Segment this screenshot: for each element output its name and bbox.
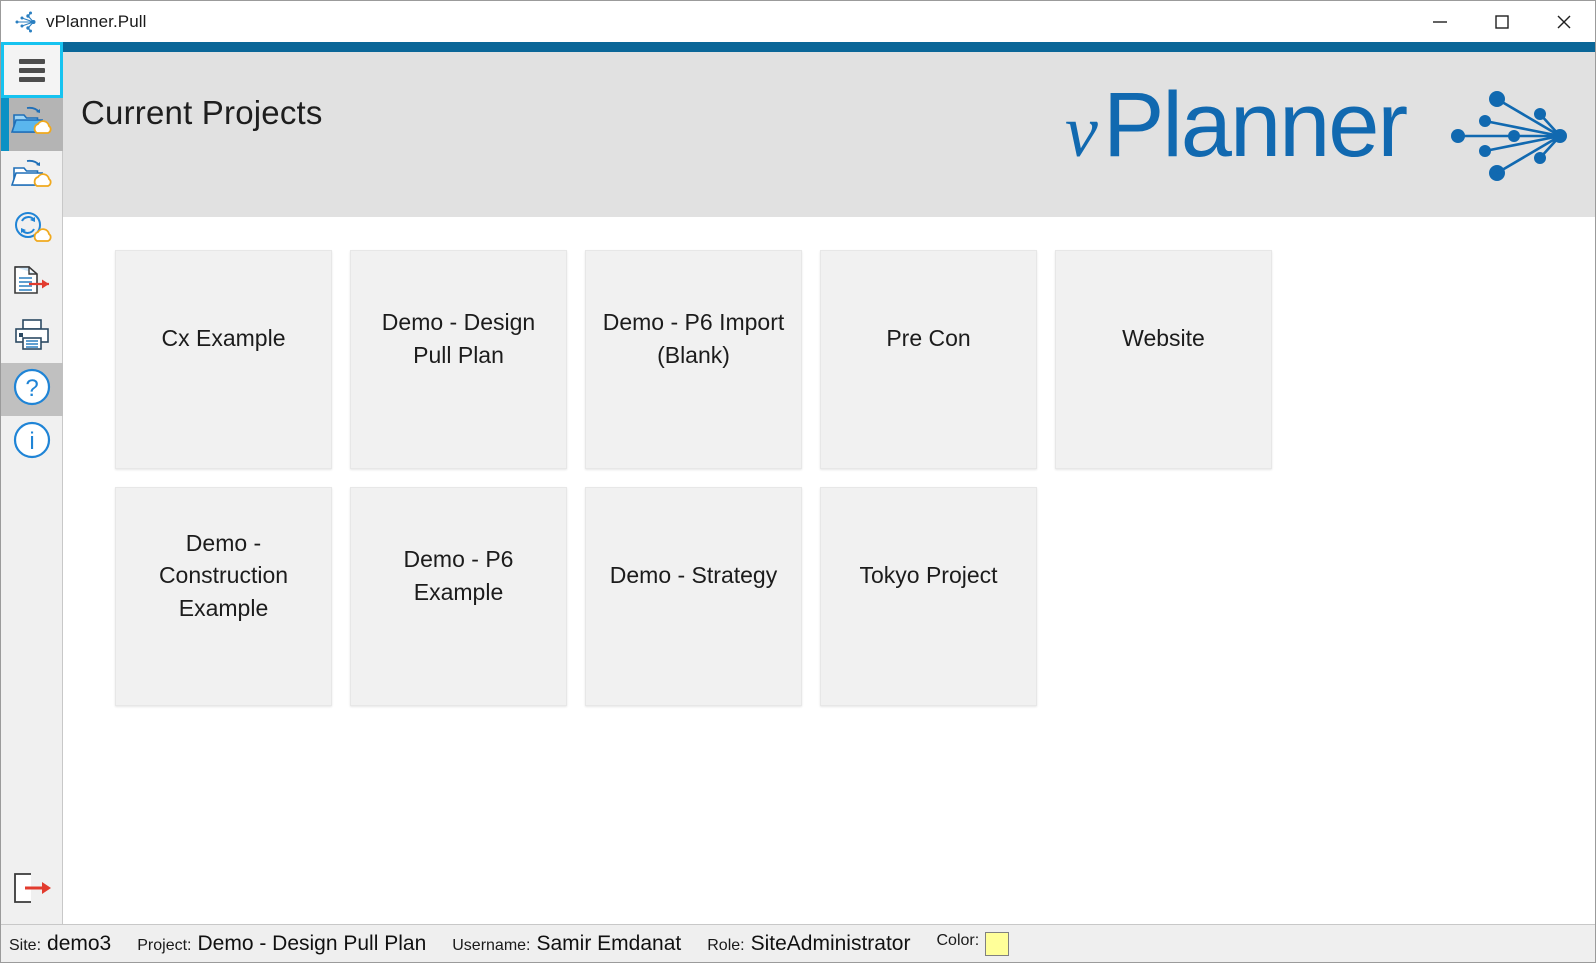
sidebar-item-save-project-cloud[interactable] bbox=[1, 151, 63, 204]
status-username-label: Username: bbox=[452, 937, 530, 955]
project-tile[interactable]: Tokyo Project bbox=[820, 487, 1037, 706]
project-tile[interactable]: Cx Example bbox=[115, 250, 332, 469]
project-tile[interactable]: Demo - P6 Example bbox=[350, 487, 567, 706]
svg-text:v: v bbox=[1065, 91, 1098, 173]
status-project: Project: Demo - Design Pull Plan bbox=[137, 932, 426, 956]
sidebar-item-about[interactable]: i bbox=[1, 416, 63, 469]
status-site-label: Site: bbox=[9, 937, 41, 955]
printer-icon bbox=[12, 317, 52, 356]
page-header: Current Projects v Planner bbox=[63, 52, 1595, 217]
question-circle-icon: ? bbox=[12, 367, 52, 412]
color-swatch[interactable] bbox=[985, 932, 1009, 956]
status-role: Role: SiteAdministrator bbox=[707, 932, 910, 956]
export-document-icon bbox=[11, 263, 53, 304]
status-username-value: Samir Emdanat bbox=[537, 932, 682, 956]
project-tile[interactable]: Demo - Strategy bbox=[585, 487, 802, 706]
sidebar-item-open-project-cloud[interactable] bbox=[1, 98, 63, 151]
app-window: vPlanner.Pull bbox=[0, 0, 1596, 963]
content-area: Current Projects v Planner bbox=[63, 42, 1595, 924]
minimize-button[interactable] bbox=[1409, 1, 1471, 42]
svg-text:Planner: Planner bbox=[1103, 74, 1407, 176]
vplanner-logo: v Planner bbox=[1065, 74, 1575, 197]
status-site: Site: demo3 bbox=[9, 932, 111, 956]
projects-row-1: Cx Example Demo - Design Pull Plan Demo … bbox=[115, 250, 1595, 469]
status-site-value: demo3 bbox=[47, 932, 111, 956]
sidebar-item-export-document[interactable] bbox=[1, 257, 63, 310]
sidebar: ? i bbox=[1, 42, 63, 924]
sidebar-item-help[interactable]: ? bbox=[1, 363, 63, 416]
accent-bar bbox=[63, 42, 1595, 52]
project-tile[interactable]: Pre Con bbox=[820, 250, 1037, 469]
status-color-label: Color: bbox=[936, 932, 979, 950]
page-title: Current Projects bbox=[81, 94, 323, 132]
status-bar: Site: demo3 Project: Demo - Design Pull … bbox=[1, 924, 1595, 962]
sidebar-item-sync-cloud[interactable] bbox=[1, 204, 63, 257]
status-project-label: Project: bbox=[137, 937, 191, 955]
maximize-button[interactable] bbox=[1471, 1, 1533, 42]
project-tile[interactable]: Website bbox=[1055, 250, 1272, 469]
app-title: vPlanner.Pull bbox=[46, 12, 147, 32]
svg-text:?: ? bbox=[25, 375, 38, 402]
status-color: Color: bbox=[936, 932, 1009, 956]
vplanner-network-icon bbox=[12, 9, 38, 35]
project-tile[interactable]: Demo - P6 Import (Blank) bbox=[585, 250, 802, 469]
window-body: ? i bbox=[1, 42, 1595, 924]
sync-cloud-icon bbox=[11, 209, 53, 252]
info-circle-icon: i bbox=[12, 420, 52, 465]
hamburger-menu-icon bbox=[19, 55, 45, 86]
status-username: Username: Samir Emdanat bbox=[452, 932, 681, 956]
svg-text:i: i bbox=[29, 428, 34, 455]
open-folder-cloud-icon bbox=[11, 103, 53, 146]
close-button[interactable] bbox=[1533, 1, 1595, 42]
projects-grid: Cx Example Demo - Design Pull Plan Demo … bbox=[63, 217, 1595, 924]
window-controls bbox=[1409, 1, 1595, 42]
status-role-label: Role: bbox=[707, 937, 744, 955]
status-project-value: Demo - Design Pull Plan bbox=[197, 932, 426, 956]
sidebar-item-logout[interactable] bbox=[1, 856, 63, 924]
logout-arrow-icon bbox=[9, 868, 55, 913]
folder-cloud-icon bbox=[11, 156, 53, 199]
sidebar-spacer bbox=[1, 469, 62, 856]
project-tile[interactable]: Demo - Construction Example bbox=[115, 487, 332, 706]
status-role-value: SiteAdministrator bbox=[751, 932, 911, 956]
sidebar-item-print[interactable] bbox=[1, 310, 63, 363]
project-tile[interactable]: Demo - Design Pull Plan bbox=[350, 250, 567, 469]
projects-row-2: Demo - Construction Example Demo - P6 Ex… bbox=[115, 487, 1595, 706]
title-bar: vPlanner.Pull bbox=[1, 1, 1595, 42]
sidebar-item-menu[interactable] bbox=[1, 42, 63, 98]
